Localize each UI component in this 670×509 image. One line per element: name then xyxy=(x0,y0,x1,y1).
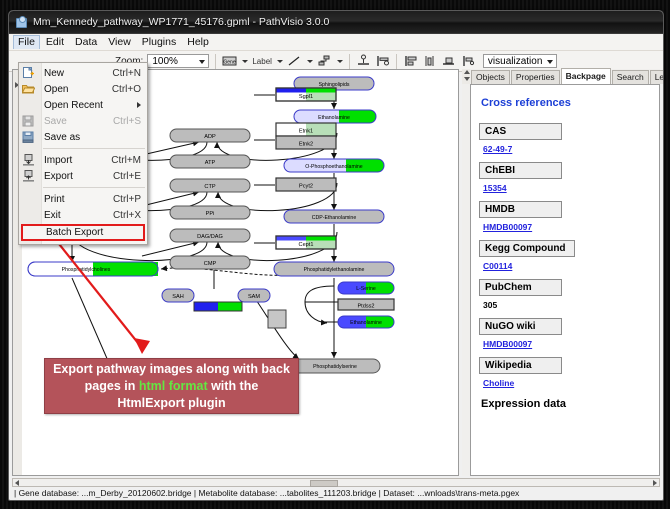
align-left-edges-icon[interactable] xyxy=(403,54,418,69)
node-o-phosphoethanolamine[interactable]: O-Phosphoethanolamine xyxy=(284,159,384,172)
menu-plugins[interactable]: Plugins xyxy=(137,35,181,50)
menu-item-label: Export xyxy=(44,171,73,182)
svg-text:Cept1: Cept1 xyxy=(299,242,314,248)
side-panel-scroll-rail[interactable] xyxy=(462,69,470,84)
tab-backpage[interactable]: Backpage xyxy=(561,68,611,84)
export-icon xyxy=(22,170,35,182)
zoom-value: 100% xyxy=(152,56,178,67)
toolbar-separator xyxy=(215,54,216,69)
menu-separator-2 xyxy=(43,187,145,188)
xref-link[interactable]: 62-49-7 xyxy=(483,144,512,154)
line-icon[interactable] xyxy=(287,54,302,69)
align-top-icon[interactable] xyxy=(356,54,371,69)
menu-view[interactable]: View xyxy=(103,35,136,50)
menu-item-accel: Ctrl+M xyxy=(111,155,141,166)
svg-text:Ptdss2: Ptdss2 xyxy=(357,304,374,310)
xref-value[interactable]: Choline xyxy=(483,378,651,388)
node-ctp[interactable]: CTP xyxy=(170,179,250,192)
menu-data[interactable]: Data xyxy=(70,35,102,50)
backpage-content[interactable]: Cross references CAS 62-49-7 ChEBI 15354… xyxy=(470,84,660,476)
align-left-icon[interactable] xyxy=(375,54,390,69)
tab-objects[interactable]: Objects xyxy=(471,70,510,84)
xref-chebi: ChEBI 15354 xyxy=(479,162,651,193)
label-dropdown-caret[interactable] xyxy=(276,54,283,68)
window-title: Mm_Kennedy_pathway_WP1771_45176.gpml - P… xyxy=(33,16,329,28)
svg-text:CTP: CTP xyxy=(204,184,215,190)
xref-value[interactable]: HMDB00097 xyxy=(483,222,651,232)
toolbar-separator-3 xyxy=(396,54,397,69)
menu-item-accel: Ctrl+S xyxy=(113,116,141,127)
menu-item-save-as[interactable]: Save as xyxy=(19,129,147,145)
cross-references-title: Cross references xyxy=(481,97,651,109)
title-bar: Mm_Kennedy_pathway_WP1771_45176.gpml - P… xyxy=(9,11,663,34)
menu-item-print[interactable]: Print Ctrl+P xyxy=(19,191,147,207)
menu-item-label: Save as xyxy=(44,132,80,143)
svg-text:Gene: Gene xyxy=(224,59,236,65)
node-grey-box[interactable] xyxy=(268,310,286,328)
xref-source-label: Kegg Compound xyxy=(479,240,575,257)
xref-value: 305 xyxy=(483,300,651,310)
xref-wikipedia: Wikipedia Choline xyxy=(479,357,651,388)
menu-item-new[interactable]: New Ctrl+N xyxy=(19,65,147,81)
side-panel-tabstrip[interactable]: Objects Properties Backpage Search Legen… xyxy=(462,69,660,84)
xref-hmdb: HMDB HMDB00097 xyxy=(479,201,651,232)
menu-item-label: Save xyxy=(44,116,67,127)
xref-value[interactable]: HMDB00097 xyxy=(483,339,651,349)
svg-text:SAH: SAH xyxy=(172,294,184,300)
svg-text:Sphingolipids: Sphingolipids xyxy=(319,82,350,88)
svg-text:O-Phosphoethanolamine: O-Phosphoethanolamine xyxy=(305,164,363,170)
xref-value[interactable]: C00114 xyxy=(483,261,651,271)
toolbar-separator-2 xyxy=(349,54,350,69)
menu-item-open[interactable]: Open Ctrl+O xyxy=(19,81,147,97)
svg-text:CMP: CMP xyxy=(204,261,217,267)
open-folder-icon xyxy=(22,83,35,95)
annotation-highlight: html format xyxy=(139,379,208,393)
scrollbar-thumb[interactable] xyxy=(310,480,338,487)
xref-link[interactable]: HMDB00097 xyxy=(483,222,532,232)
menu-item-label: Import xyxy=(44,155,72,166)
xref-link[interactable]: 15354 xyxy=(483,183,507,193)
xref-source-label: PubChem xyxy=(479,279,562,296)
xref-source-label: ChEBI xyxy=(479,162,562,179)
menu-separator-1 xyxy=(43,148,145,149)
node-cdp-ethanolamine[interactable]: CDP-Ethanolamine xyxy=(284,210,384,223)
svg-text:PPi: PPi xyxy=(206,211,215,217)
status-bar-text: | Gene database: ...m_Derby_20120602.bri… xyxy=(12,488,660,498)
save-disk-icon xyxy=(22,115,35,127)
menu-item-exit[interactable]: Exit Ctrl+X xyxy=(19,207,147,223)
status-bar: | Gene database: ...m_Derby_20120602.bri… xyxy=(12,478,660,498)
menu-item-export[interactable]: Export Ctrl+E xyxy=(19,168,147,184)
node-sam[interactable]: SAM xyxy=(238,289,270,302)
chevron-down-icon xyxy=(199,60,205,64)
new-file-icon xyxy=(22,67,35,79)
xref-source-label: CAS xyxy=(479,123,562,140)
menu-item-label: Print xyxy=(44,194,65,205)
submenu-arrow-icon xyxy=(137,102,141,108)
datanode-dropdown-caret[interactable] xyxy=(241,54,248,68)
svg-text:Pcyt2: Pcyt2 xyxy=(299,184,313,190)
gene-etnk1[interactable]: Etnk1 xyxy=(276,123,336,136)
node-adp[interactable]: ADP xyxy=(170,129,250,142)
file-menu-dropdown[interactable]: New Ctrl+N Open Ctrl+O Open Recent Save xyxy=(18,62,148,245)
node-ethanolamine[interactable]: Ethanolamine xyxy=(294,110,376,123)
import-icon xyxy=(22,154,35,166)
gene-cept1[interactable]: Cept1 xyxy=(276,236,336,249)
horizontal-scrollbar[interactable] xyxy=(12,478,660,487)
menu-item-import[interactable]: Import Ctrl+M xyxy=(19,152,147,168)
svg-text:Phosphatidylserine: Phosphatidylserine xyxy=(313,364,357,370)
node-pemt-block[interactable] xyxy=(194,302,242,311)
tab-search[interactable]: Search xyxy=(612,70,649,84)
svg-text:ATP: ATP xyxy=(205,160,216,166)
line-dropdown-caret[interactable] xyxy=(306,54,313,68)
node-phosphatidylethanolamine[interactable]: Phosphatidylethanolamine xyxy=(274,262,394,276)
menu-edit[interactable]: Edit xyxy=(41,35,69,50)
scroll-left-icon[interactable] xyxy=(13,479,22,486)
interaction-icon[interactable] xyxy=(317,54,332,69)
gene-etnk2[interactable]: Etnk2 xyxy=(276,136,336,149)
pathvisio-app-icon xyxy=(15,16,27,28)
xref-cas: CAS 62-49-7 xyxy=(479,123,651,154)
menu-item-accel: Ctrl+O xyxy=(112,84,141,95)
xref-kegg-compound: Kegg Compound C00114 xyxy=(479,240,651,271)
gene-pcyt2[interactable]: Pcyt2 xyxy=(276,178,336,191)
desktop-background: Mm_Kennedy_pathway_WP1771_45176.gpml - P… xyxy=(0,0,670,509)
menu-item-label: New xyxy=(44,68,64,79)
tab-legend[interactable]: Legend xyxy=(650,70,664,84)
menu-item-label: Open Recent xyxy=(44,100,103,111)
menu-item-accel: Ctrl+P xyxy=(113,194,141,205)
menu-item-accel: Ctrl+E xyxy=(113,171,141,182)
scroll-right-icon[interactable] xyxy=(650,479,659,486)
svg-text:Sgpl1: Sgpl1 xyxy=(299,94,313,100)
node-phosphatidylcholines[interactable]: Phosphatidylcholines xyxy=(28,262,158,276)
xref-source-label: HMDB xyxy=(479,201,562,218)
xref-value[interactable]: 15354 xyxy=(483,183,651,193)
svg-text:L-Serine: L-Serine xyxy=(356,286,376,292)
interaction-dropdown-caret[interactable] xyxy=(336,54,343,68)
menu-item-label: Open xyxy=(44,84,68,95)
chevron-down-icon-2 xyxy=(547,60,553,64)
svg-text:Etnk1: Etnk1 xyxy=(299,129,313,135)
node-cmp[interactable]: CMP xyxy=(170,256,250,269)
menu-item-label: Exit xyxy=(44,210,61,221)
node-l-serine[interactable]: L-Serine xyxy=(338,282,394,294)
svg-text:Phosphatidylethanolamine: Phosphatidylethanolamine xyxy=(304,267,365,273)
svg-text:SAM: SAM xyxy=(248,294,260,300)
save-as-icon xyxy=(22,131,35,143)
gene-ptdss2[interactable]: Ptdss2 xyxy=(338,299,394,310)
menu-item-accel: Ctrl+N xyxy=(112,68,141,79)
xref-link[interactable]: C00114 xyxy=(483,261,512,271)
svg-text:Etnk2: Etnk2 xyxy=(299,142,313,148)
zoom-combobox[interactable]: 100% xyxy=(147,54,209,68)
align-center-icon[interactable] xyxy=(422,54,437,69)
node-dag[interactable]: DAG/DAG xyxy=(170,229,250,242)
visualization-value: visualization xyxy=(488,56,542,67)
tab-properties[interactable]: Properties xyxy=(511,70,560,84)
menu-bar[interactable]: File Edit Data View Plugins Help xyxy=(9,34,663,51)
menu-file[interactable]: File xyxy=(13,35,40,49)
visualization-combobox[interactable]: visualization xyxy=(483,54,557,68)
xref-value[interactable]: 62-49-7 xyxy=(483,144,651,154)
svg-text:CDP-Ethanolamine: CDP-Ethanolamine xyxy=(312,215,357,221)
xref-source-label: Wikipedia xyxy=(479,357,562,374)
menu-item-save: Save Ctrl+S xyxy=(19,113,147,129)
pathvisio-application-window: Mm_Kennedy_pathway_WP1771_45176.gpml - P… xyxy=(8,10,664,501)
node-sah[interactable]: SAH xyxy=(162,289,194,302)
xref-source-label: NuGO wiki xyxy=(479,318,562,335)
svg-text:ADP: ADP xyxy=(204,134,216,140)
menu-item-open-recent[interactable]: Open Recent xyxy=(19,97,147,113)
annotation-callout: Export pathway images along with back pa… xyxy=(44,358,299,414)
node-atp[interactable]: ATP xyxy=(170,155,250,168)
node-ethanolamine-2[interactable]: Ethanolamine xyxy=(338,316,394,328)
node-phosphatidylserine[interactable]: Phosphatidylserine xyxy=(290,359,380,373)
align-right-icon[interactable] xyxy=(460,54,475,69)
svg-text:DAG/DAG: DAG/DAG xyxy=(197,234,223,240)
menu-item-batch-export[interactable]: Batch Export xyxy=(21,224,145,241)
menu-item-label: Batch Export xyxy=(46,227,103,238)
svg-text:Ethanolamine: Ethanolamine xyxy=(350,320,382,326)
label-icon[interactable]: Label xyxy=(252,57,272,66)
datanode-icon[interactable]: Gene xyxy=(222,54,237,69)
node-ppi[interactable]: PPi xyxy=(170,206,250,219)
menu-help[interactable]: Help xyxy=(182,35,214,50)
svg-text:Ethanolamine: Ethanolamine xyxy=(318,115,350,121)
menu-item-accel: Ctrl+X xyxy=(113,210,141,221)
side-panel[interactable]: Objects Properties Backpage Search Legen… xyxy=(462,69,660,476)
xref-link[interactable]: HMDB00097 xyxy=(483,339,532,349)
expression-data-title: Expression data xyxy=(481,398,651,410)
gene-sgpl1[interactable]: Sgpl1 xyxy=(276,88,336,101)
xref-pubchem: PubChem 305 xyxy=(479,279,651,310)
xref-link[interactable]: Choline xyxy=(483,378,514,388)
xref-nugo-wiki: NuGO wiki HMDB00097 xyxy=(479,318,651,349)
align-bottom-icon[interactable] xyxy=(441,54,456,69)
svg-text:Phosphatidylcholines: Phosphatidylcholines xyxy=(62,267,111,273)
